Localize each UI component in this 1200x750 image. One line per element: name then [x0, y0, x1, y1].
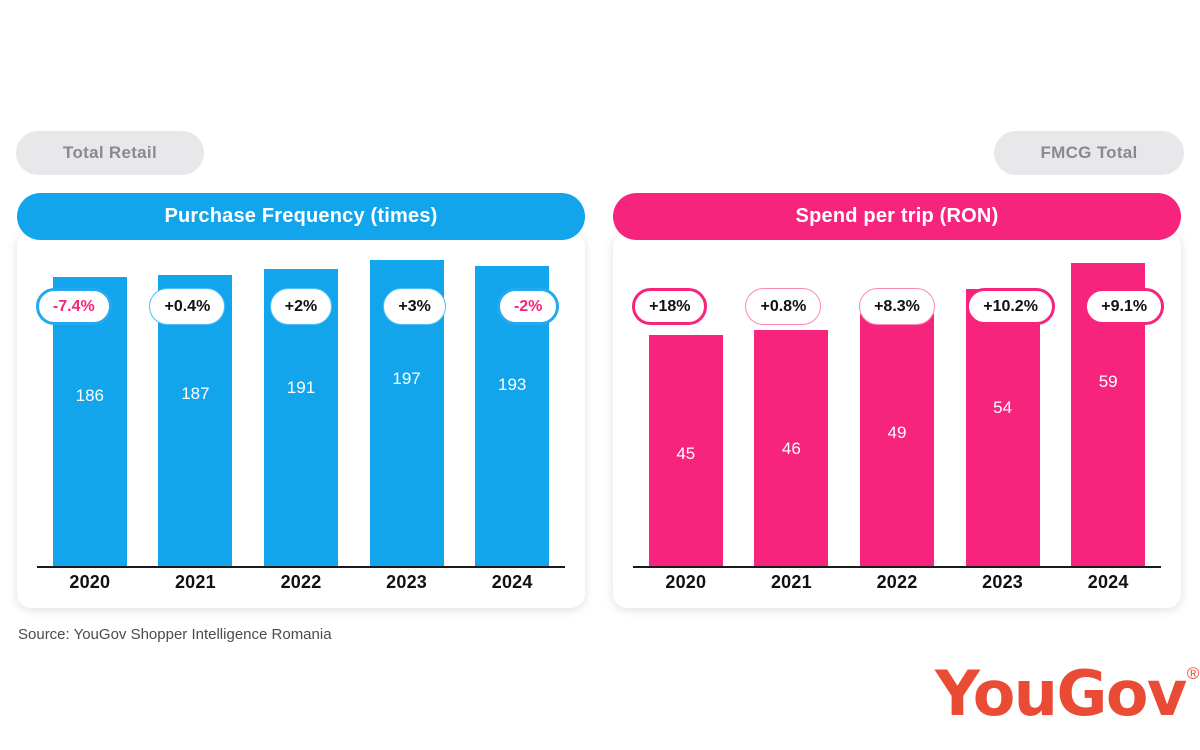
- delta-pill-cell: -2%: [471, 288, 585, 325]
- x-tick-2020: 2020: [37, 572, 143, 593]
- bar-2020[interactable]: 45: [649, 335, 723, 566]
- bar-value-label: 54: [993, 398, 1012, 418]
- delta-pill-2021[interactable]: +0.8%: [745, 288, 821, 325]
- delta-pill-label: -7.4%: [53, 298, 95, 316]
- delta-pill-cell: -7.4%: [17, 288, 131, 325]
- bar-cell: 54: [950, 232, 1056, 566]
- x-tick-2020: 2020: [633, 572, 739, 593]
- delta-pill-label: +9.1%: [1101, 298, 1147, 316]
- delta-pill-label: +18%: [649, 298, 690, 316]
- delta-pill-row: +18% +0.8% +8.3% +10.2% +9.1%: [613, 288, 1181, 325]
- delta-pill-label: +10.2%: [983, 298, 1038, 316]
- bar-cell: 45: [633, 232, 739, 566]
- delta-pill-label: +3%: [398, 298, 430, 316]
- delta-pill-cell: +10.2%: [954, 288, 1068, 325]
- x-tick-2022: 2022: [248, 572, 354, 593]
- bar-value-label: 49: [888, 423, 907, 443]
- delta-pill-cell: +0.8%: [727, 288, 841, 325]
- delta-pill-cell: +2%: [244, 288, 358, 325]
- bar-group: 186 187 191 197: [37, 232, 565, 566]
- segment-chip-right-label: FMCG Total: [1040, 143, 1137, 163]
- panel-header-purchase-frequency: Purchase Frequency (times): [17, 193, 585, 240]
- segment-chip-total-retail[interactable]: Total Retail: [16, 131, 204, 175]
- panel-title: Purchase Frequency (times): [164, 205, 437, 228]
- bar-cell: 49: [844, 232, 950, 566]
- segment-chip-left-label: Total Retail: [63, 143, 157, 163]
- yougov-logo-wordmark: YouGov: [935, 663, 1186, 725]
- bar-group: 45 46 49 54: [633, 232, 1161, 566]
- delta-pill-2023[interactable]: +3%: [383, 288, 445, 325]
- delta-pill-cell: +3%: [358, 288, 472, 325]
- delta-pill-cell: +18%: [613, 288, 727, 325]
- bar-cell: 197: [354, 232, 460, 566]
- panel-header-spend-per-trip: Spend per trip (RON): [613, 193, 1181, 240]
- bar-cell: 191: [248, 232, 354, 566]
- delta-pill-label: -2%: [514, 298, 542, 316]
- panel-purchase-frequency: Purchase Frequency (times) -7.4% +0.4% +…: [17, 193, 585, 608]
- chart-card-spend-per-trip: +18% +0.8% +8.3% +10.2% +9.1%: [613, 232, 1181, 608]
- chart-card-purchase-frequency: -7.4% +0.4% +2% +3% -2%: [17, 232, 585, 608]
- x-tick-2021: 2021: [739, 572, 845, 593]
- source-note: Source: YouGov Shopper Intelligence Roma…: [18, 626, 332, 643]
- x-axis-line: [37, 566, 565, 568]
- delta-pill-2020[interactable]: -7.4%: [36, 288, 112, 325]
- registered-trademark-icon: ®: [1187, 665, 1200, 682]
- bar-cell: 187: [143, 232, 249, 566]
- x-tick-2023: 2023: [950, 572, 1056, 593]
- x-tick-2022: 2022: [844, 572, 950, 593]
- x-axis-labels: 2020 2021 2022 2023 2024: [633, 572, 1161, 593]
- bar-cell: 46: [739, 232, 845, 566]
- x-tick-2021: 2021: [143, 572, 249, 593]
- delta-pill-2023[interactable]: +10.2%: [966, 288, 1055, 325]
- bar-2023[interactable]: 54: [966, 289, 1040, 566]
- delta-pill-2022[interactable]: +2%: [270, 288, 332, 325]
- delta-pill-label: +8.3%: [874, 298, 920, 316]
- x-tick-2024: 2024: [1055, 572, 1161, 593]
- bar-value-label: 186: [76, 386, 104, 406]
- x-axis-line: [633, 566, 1161, 568]
- bar-2022[interactable]: 49: [860, 314, 934, 566]
- delta-pill-cell: +8.3%: [840, 288, 954, 325]
- bar-cell: 59: [1055, 232, 1161, 566]
- bar-value-label: 59: [1099, 372, 1118, 392]
- bar-value-label: 45: [676, 444, 695, 464]
- delta-pill-2024[interactable]: +9.1%: [1084, 288, 1164, 325]
- delta-pill-2021[interactable]: +0.4%: [149, 288, 225, 325]
- delta-pill-2024[interactable]: -2%: [497, 288, 559, 325]
- segment-chip-fmcg-total[interactable]: FMCG Total: [994, 131, 1184, 175]
- delta-pill-label: +2%: [285, 298, 317, 316]
- bar-value-label: 191: [287, 378, 315, 398]
- bar-2021[interactable]: 46: [754, 330, 828, 566]
- bar-cell: 186: [37, 232, 143, 566]
- bar-value-label: 187: [181, 384, 209, 404]
- delta-pill-cell: +9.1%: [1067, 288, 1181, 325]
- delta-pill-cell: +0.4%: [131, 288, 245, 325]
- bar-value-label: 197: [392, 369, 420, 389]
- x-axis-labels: 2020 2021 2022 2023 2024: [37, 572, 565, 593]
- bar-value-label: 46: [782, 439, 801, 459]
- panel-spend-per-trip: Spend per trip (RON) +18% +0.8% +8.3%: [613, 193, 1181, 608]
- bar-cell: 193: [459, 232, 565, 566]
- bar-value-label: 193: [498, 375, 526, 395]
- delta-pill-row: -7.4% +0.4% +2% +3% -2%: [17, 288, 585, 325]
- x-tick-2023: 2023: [354, 572, 460, 593]
- x-tick-2024: 2024: [459, 572, 565, 593]
- delta-pill-2020[interactable]: +18%: [632, 288, 707, 325]
- delta-pill-2022[interactable]: +8.3%: [859, 288, 935, 325]
- delta-pill-label: +0.4%: [164, 298, 210, 316]
- yougov-logo: YouGov ®: [935, 663, 1199, 725]
- panel-title: Spend per trip (RON): [796, 205, 999, 228]
- delta-pill-label: +0.8%: [760, 298, 806, 316]
